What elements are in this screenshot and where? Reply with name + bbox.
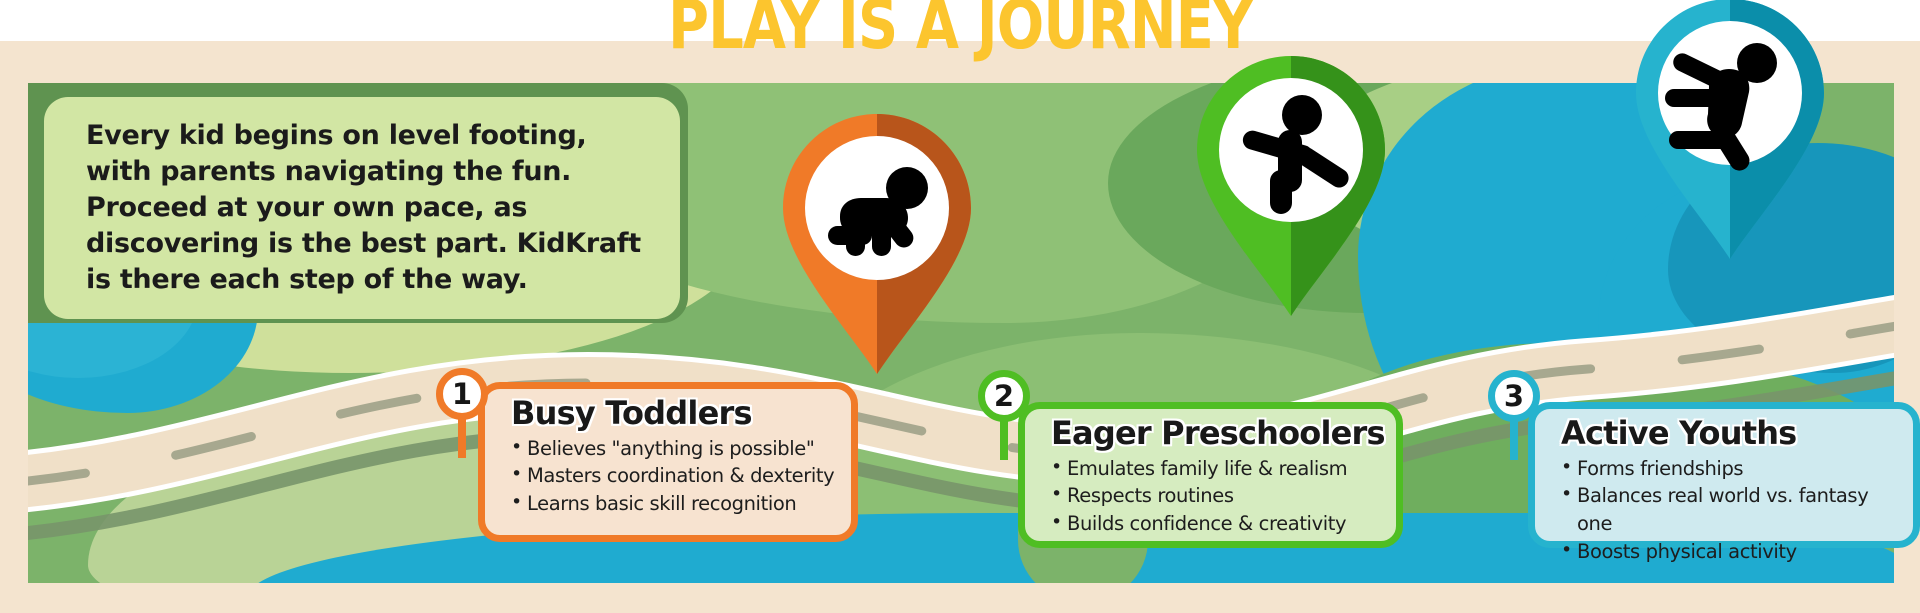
intro-box: Every kid begins on level footing, with … bbox=[44, 97, 680, 319]
step-card-3-bullets: Forms friendships Balances real world vs… bbox=[1561, 455, 1903, 566]
step-card-3[interactable]: Active Youths Forms friendships Balances… bbox=[1528, 402, 1920, 548]
step-badge-1-number: 1 bbox=[436, 368, 488, 420]
step-card-2[interactable]: Eager Preschoolers Emulates family life … bbox=[1018, 402, 1403, 548]
step-card-2-title: Eager Preschoolers bbox=[1051, 417, 1386, 451]
map-pin-1[interactable] bbox=[772, 110, 982, 378]
map-pin-2[interactable] bbox=[1186, 52, 1396, 320]
list-item: Boosts physical activity bbox=[1561, 538, 1903, 566]
list-item: Builds confidence & creativity bbox=[1051, 510, 1386, 538]
step-card-1-title: Busy Toddlers bbox=[511, 397, 841, 431]
list-item: Forms friendships bbox=[1561, 455, 1903, 483]
list-item: Masters coordination & dexterity bbox=[511, 462, 841, 490]
step-badge-3-number: 3 bbox=[1488, 370, 1540, 422]
list-item: Believes "anything is possible" bbox=[511, 435, 841, 463]
step-card-1[interactable]: Busy Toddlers Believes "anything is poss… bbox=[478, 382, 858, 542]
list-item: Respects routines bbox=[1051, 482, 1386, 510]
list-item: Emulates family life & realism bbox=[1051, 455, 1386, 483]
list-item: Learns basic skill recognition bbox=[511, 490, 841, 518]
list-item: Balances real world vs. fantasy one bbox=[1561, 482, 1903, 537]
intro-text: Every kid begins on level footing, with … bbox=[44, 118, 680, 298]
step-card-3-title: Active Youths bbox=[1561, 417, 1903, 451]
step-card-2-bullets: Emulates family life & realism Respects … bbox=[1051, 455, 1386, 538]
step-badge-2-number: 2 bbox=[978, 370, 1030, 422]
map-pin-3[interactable] bbox=[1625, 0, 1835, 263]
infographic-root: Every kid begins on level footing, with … bbox=[0, 0, 1920, 613]
step-card-1-bullets: Believes "anything is possible" Masters … bbox=[511, 435, 841, 518]
